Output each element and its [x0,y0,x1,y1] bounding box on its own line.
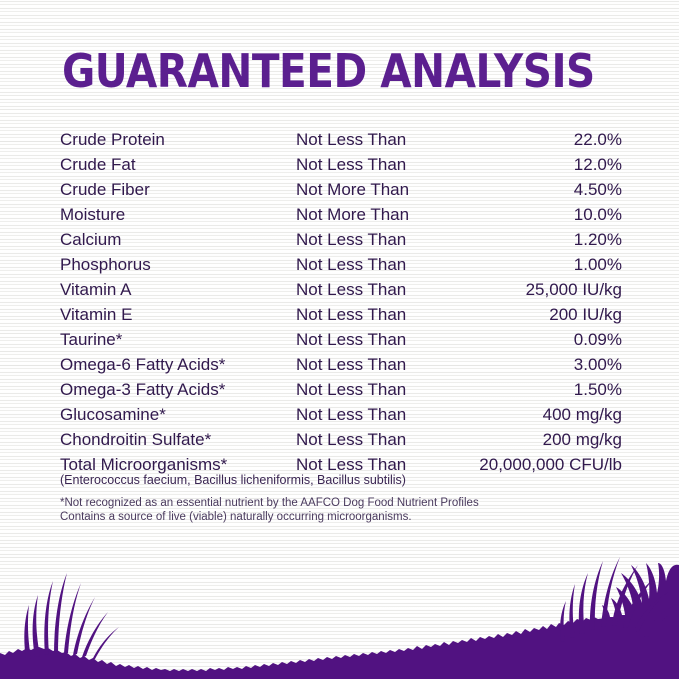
nutrient-name: Omega-3 Fatty Acids* [60,377,225,402]
nutrient-qualifier: Not Less Than [296,377,406,402]
nutrient-name: Phosphorus [60,252,151,277]
nutrient-value: 3.00% [574,352,622,377]
nutrient-qualifier: Not Less Than [296,402,406,427]
table-row: Omega-6 Fatty Acids* Not Less Than 3.00% [60,352,622,377]
nutrient-qualifier: Not More Than [296,177,409,202]
page-title: GUARANTEED ANALYSIS [62,45,595,97]
nutrient-qualifier: Not Less Than [296,152,406,177]
nutrient-qualifier: Not Less Than [296,427,406,452]
nutrient-value: 0.09% [574,327,622,352]
footnote-aafco: *Not recognized as an essential nutrient… [60,496,479,510]
nutrient-value: 22.0% [574,127,622,152]
table-row: Chondroitin Sulfate* Not Less Than 200 m… [60,427,622,452]
table-row: Glucosamine* Not Less Than 400 mg/kg [60,402,622,427]
nutrient-qualifier: Not Less Than [296,352,406,377]
nutrient-name: Crude Fat [60,152,136,177]
nutrient-value: 1.50% [574,377,622,402]
nutrient-qualifier: Not More Than [296,202,409,227]
table-row: Vitamin E Not Less Than 200 IU/kg [60,302,622,327]
nutrient-qualifier: Not Less Than [296,327,406,352]
nutrient-qualifier: Not Less Than [296,277,406,302]
nutrient-name: Omega-6 Fatty Acids* [60,352,225,377]
table-row: Moisture Not More Than 10.0% [60,202,622,227]
nutrient-value: 1.20% [574,227,622,252]
nutrient-name: Glucosamine* [60,402,166,427]
grass-silhouette-icon [0,519,679,679]
nutrient-value: 10.0% [574,202,622,227]
nutrient-value: 1.00% [574,252,622,277]
nutrient-value: 20,000,000 CFU/lb [479,452,622,477]
nutrient-value: 200 IU/kg [549,302,622,327]
nutrient-name: Crude Fiber [60,177,150,202]
nutrient-value: 200 mg/kg [543,427,622,452]
nutrient-name: Moisture [60,202,125,227]
nutrient-qualifier: Not Less Than [296,302,406,327]
nutrient-name: Vitamin E [60,302,132,327]
table-row: Taurine* Not Less Than 0.09% [60,327,622,352]
nutrient-value: 4.50% [574,177,622,202]
nutrient-name: Calcium [60,227,121,252]
nutrient-qualifier: Not Less Than [296,227,406,252]
nutrient-name: Crude Protein [60,127,165,152]
table-row: Crude Fat Not Less Than 12.0% [60,152,622,177]
guaranteed-analysis-table: Crude Protein Not Less Than 22.0% Crude … [60,127,622,477]
nutrient-value: 12.0% [574,152,622,177]
table-row: Phosphorus Not Less Than 1.00% [60,252,622,277]
nutrient-name: Vitamin A [60,277,132,302]
table-row: Omega-3 Fatty Acids* Not Less Than 1.50% [60,377,622,402]
nutrient-name: Taurine* [60,327,122,352]
nutrient-qualifier: Not Less Than [296,127,406,152]
table-row: Calcium Not Less Than 1.20% [60,227,622,252]
table-row: Crude Protein Not Less Than 22.0% [60,127,622,152]
nutrient-value: 25,000 IU/kg [526,277,622,302]
table-row: Vitamin A Not Less Than 25,000 IU/kg [60,277,622,302]
guaranteed-analysis-panel: GUARANTEED ANALYSIS Crude Protein Not Le… [0,0,679,679]
nutrient-name: Chondroitin Sulfate* [60,427,211,452]
nutrient-value: 400 mg/kg [543,402,622,427]
microorganism-species-note: (Enterococcus faecium, Bacillus lichenif… [60,473,406,487]
nutrient-qualifier: Not Less Than [296,252,406,277]
table-row: Crude Fiber Not More Than 4.50% [60,177,622,202]
